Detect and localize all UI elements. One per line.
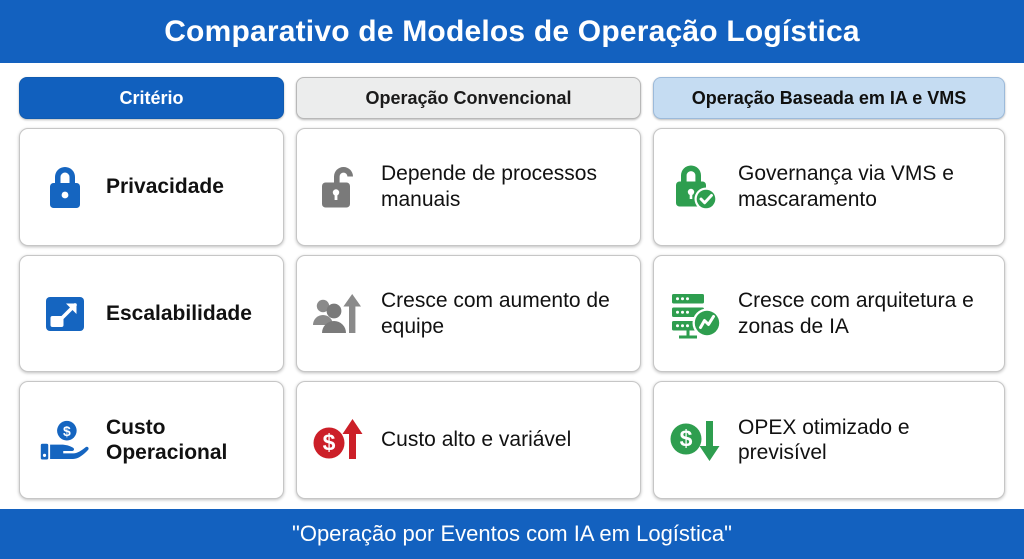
table-row: Privacidade Depende de processos manuais <box>20 128 1004 246</box>
people-arrow-up-icon <box>309 284 369 344</box>
table-row: $ Custo Operacional $ <box>20 381 1004 499</box>
criterion-label: Custo Operacional <box>106 415 271 466</box>
footer-banner: "Operação por Eventos com IA em Logístic… <box>0 509 1024 559</box>
criterion-label: Privacidade <box>106 174 224 200</box>
ai-vms-cell-custo-operacional: $ OPEX otimizado e previsível <box>653 381 1005 499</box>
scale-arrow-icon <box>38 287 92 341</box>
dollar-arrow-down-icon: $ <box>666 410 726 470</box>
criterion-cell-custo-operacional: $ Custo Operacional <box>19 381 284 499</box>
hand-coin-icon: $ <box>38 413 92 467</box>
conventional-cell-custo-operacional: $ Custo alto e variável <box>296 381 641 499</box>
table-row: Escalabilidade Cresce com aumento de equ… <box>20 255 1004 373</box>
ai-vms-label: Governança via VMS e mascaramento <box>738 161 992 212</box>
comparison-slide: Comparativo de Modelos de Operação Logís… <box>0 0 1024 559</box>
lock-open-icon <box>309 157 369 217</box>
table-header-row: Critério Operação Convencional Operação … <box>20 77 1004 119</box>
criterion-cell-privacidade: Privacidade <box>19 128 284 246</box>
column-header-criterio-label: Critério <box>119 88 183 109</box>
conventional-label: Custo alto e variável <box>381 427 571 453</box>
ai-vms-cell-escalabilidade: Cresce com arquitetura e zonas de IA <box>653 255 1005 373</box>
svg-text:$: $ <box>323 430 336 456</box>
conventional-cell-escalabilidade: Cresce com aumento de equipe <box>296 255 641 373</box>
ai-vms-label: Cresce com arquitetura e zonas de IA <box>738 288 992 339</box>
ai-vms-cell-privacidade: Governança via VMS e mascaramento <box>653 128 1005 246</box>
svg-text:$: $ <box>680 426 693 452</box>
title-banner: Comparativo de Modelos de Operação Logís… <box>0 0 1024 63</box>
page-title: Comparativo de Modelos de Operação Logís… <box>164 17 860 47</box>
column-header-ia-vms-label: Operação Baseada em IA e VMS <box>692 88 966 109</box>
server-analytics-icon <box>666 284 726 344</box>
svg-text:$: $ <box>63 423 71 439</box>
column-header-ia-vms: Operação Baseada em IA e VMS <box>653 77 1005 119</box>
conventional-label: Depende de processos manuais <box>381 161 628 212</box>
column-header-criterio: Critério <box>19 77 284 119</box>
ai-vms-label: OPEX otimizado e previsível <box>738 415 992 466</box>
footer-tagline: "Operação por Eventos com IA em Logístic… <box>292 523 732 545</box>
conventional-label: Cresce com aumento de equipe <box>381 288 628 339</box>
column-header-convencional-label: Operação Convencional <box>365 88 571 109</box>
lock-closed-icon <box>38 160 92 214</box>
lock-check-icon <box>666 157 726 217</box>
criterion-cell-escalabilidade: Escalabilidade <box>19 255 284 373</box>
dollar-arrow-up-icon: $ <box>309 410 369 470</box>
conventional-cell-privacidade: Depende de processos manuais <box>296 128 641 246</box>
comparison-table: Critério Operação Convencional Operação … <box>0 63 1024 509</box>
criterion-label: Escalabilidade <box>106 301 252 327</box>
column-header-convencional: Operação Convencional <box>296 77 641 119</box>
